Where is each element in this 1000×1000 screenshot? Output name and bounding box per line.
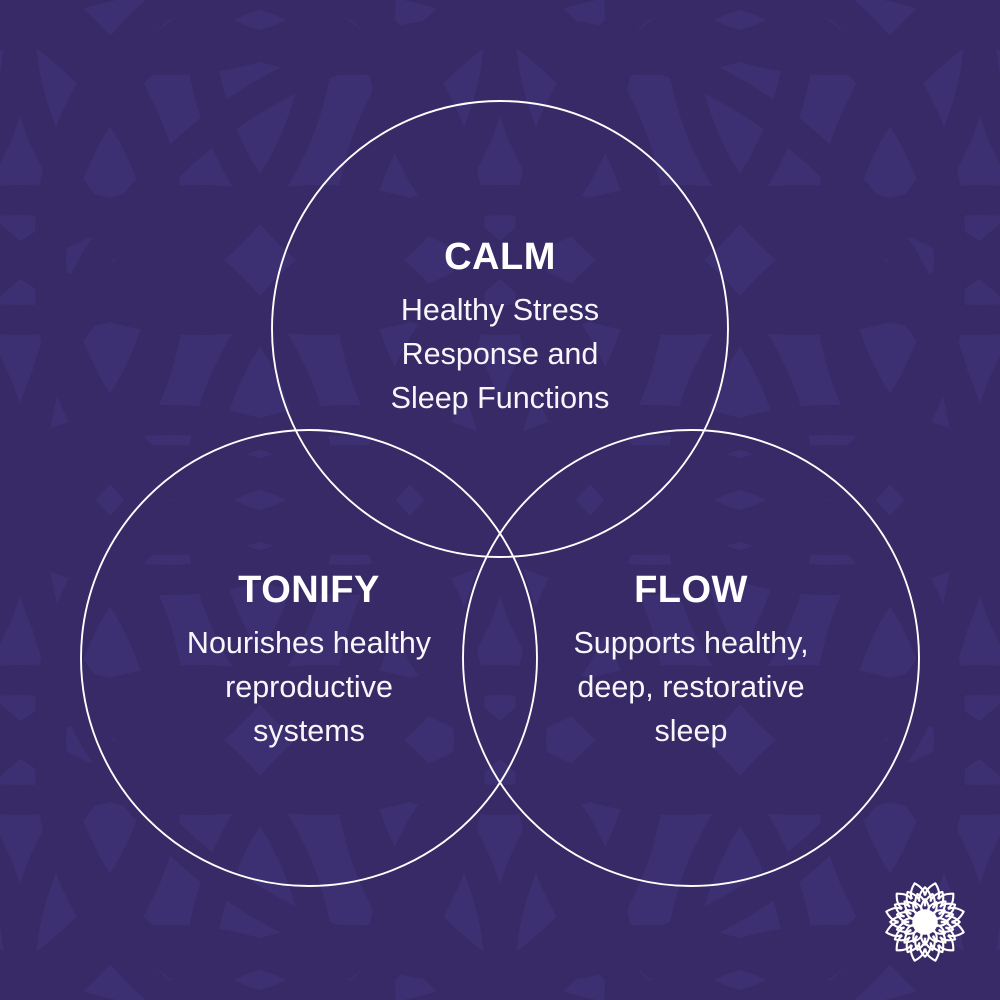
venn-title-flow: FLOW: [511, 571, 871, 611]
venn-label-group-calm: CALM Healthy Stress Response and Sleep F…: [320, 238, 680, 420]
venn-circles: [0, 0, 1000, 1000]
venn-description-tonify: Nourishes healthy reproductive systems: [129, 621, 489, 753]
venn-description-flow: Supports healthy, deep, restorative slee…: [511, 621, 871, 753]
venn-diagram-poster: CALM Healthy Stress Response and Sleep F…: [0, 0, 1000, 1000]
venn-label-group-tonify: TONIFY Nourishes healthy reproductive sy…: [129, 571, 489, 753]
venn-description-calm: Healthy Stress Response and Sleep Functi…: [320, 288, 680, 420]
venn-title-tonify: TONIFY: [129, 571, 489, 611]
venn-title-calm: CALM: [320, 238, 680, 278]
lotus-mandala-logo: [881, 878, 969, 966]
venn-label-group-flow: FLOW Supports healthy, deep, restorative…: [511, 571, 871, 753]
